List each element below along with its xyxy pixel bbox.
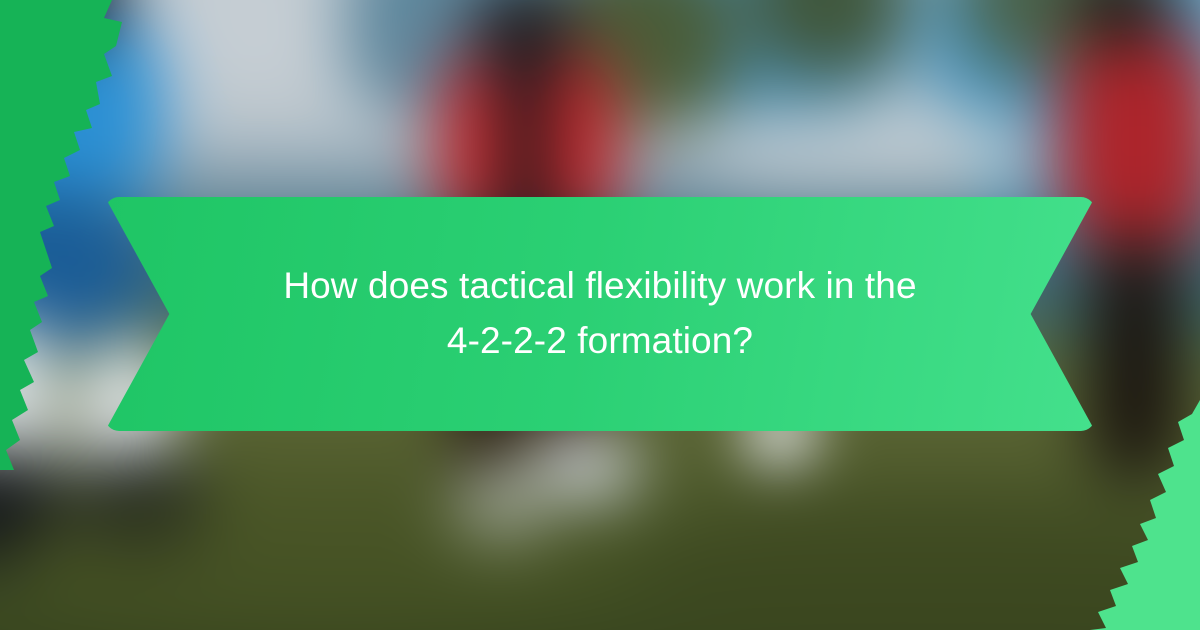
photo-grass-patch-left: [6, 469, 642, 630]
photo-right-player-leg: [1088, 236, 1183, 480]
headline-line-1: How does tactical flexibility work in th…: [283, 262, 916, 311]
headline-text-block: How does tactical flexibility work in th…: [105, 197, 1095, 431]
photo-barrier-band: [706, 119, 1066, 193]
social-share-card: How does tactical flexibility work in th…: [0, 0, 1200, 630]
headline-banner: How does tactical flexibility work in th…: [105, 197, 1095, 431]
headline-line-2: 4-2-2-2 formation?: [447, 317, 753, 366]
